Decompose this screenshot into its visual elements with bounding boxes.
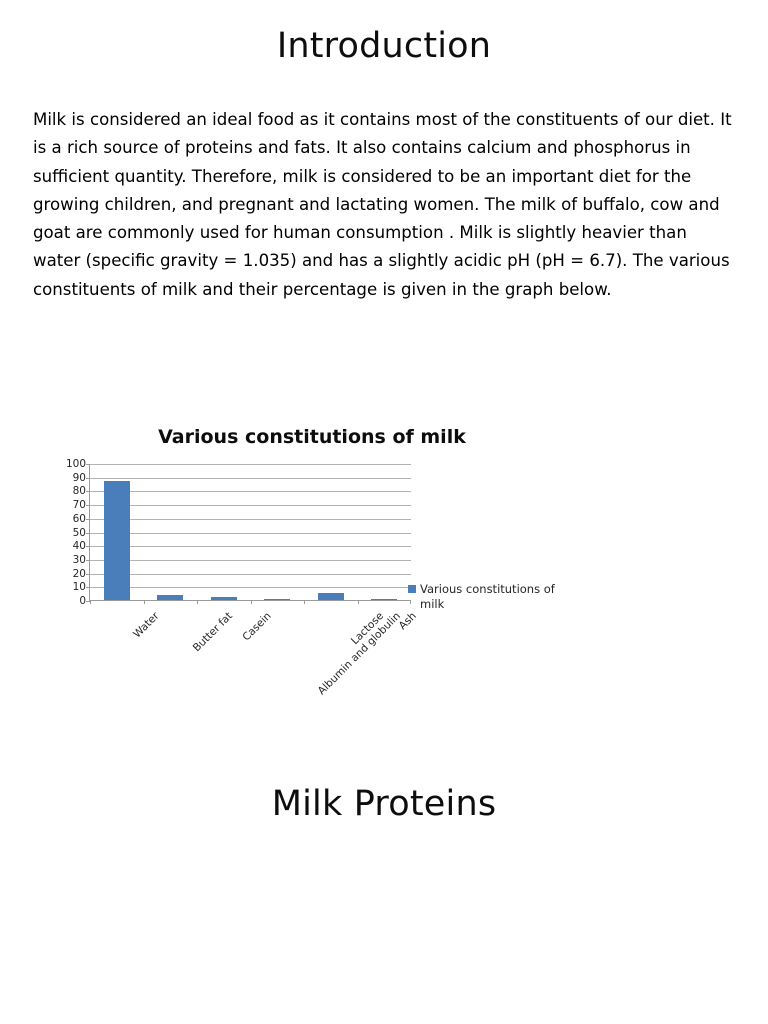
- y-tick-label: 40: [56, 541, 86, 552]
- bars-layer: [90, 464, 411, 600]
- y-tick-label: 80: [56, 486, 86, 497]
- chart-figure: Various constitutions of milk 1009080706…: [56, 420, 656, 710]
- x-axis-labels: WaterButter fatCaseinAlbumin and globuli…: [89, 604, 411, 714]
- chart-legend: Various constitutions of milk: [408, 582, 580, 611]
- bar-slot: [304, 464, 358, 600]
- page-title-milk-proteins: Milk Proteins: [0, 784, 768, 824]
- bar-slot: [90, 464, 144, 600]
- x-tick-label: Ash: [396, 610, 418, 632]
- bar-slot: [144, 464, 198, 600]
- x-tick-label: Albumin and globulin: [316, 610, 403, 697]
- intro-paragraph: Milk is considered an ideal food as it c…: [33, 106, 735, 304]
- y-tick-label: 20: [56, 569, 86, 580]
- y-tick-label: 10: [56, 582, 86, 593]
- chart-bar[interactable]: [104, 481, 130, 600]
- bar-slot: [251, 464, 305, 600]
- chart-bar[interactable]: [211, 597, 237, 600]
- y-axis-labels: 1009080706050403020100: [56, 464, 86, 601]
- y-tick-label: 100: [56, 459, 86, 470]
- legend-swatch-icon: [408, 585, 416, 593]
- chart-bar[interactable]: [157, 595, 183, 600]
- y-tick-label: 70: [56, 500, 86, 511]
- bar-slot: [358, 464, 412, 600]
- chart-title: Various constitutions of milk: [56, 426, 568, 448]
- chart-plot-wrapper: 1009080706050403020100 WaterButter fatCa…: [56, 464, 656, 614]
- legend-label: Various constitutions of milk: [420, 582, 580, 611]
- y-tick-label: 0: [56, 596, 86, 607]
- chart-bar[interactable]: [318, 593, 344, 600]
- bar-slot: [197, 464, 251, 600]
- y-tick-label: 50: [56, 528, 86, 539]
- y-tick-label: 90: [56, 473, 86, 484]
- chart-bar[interactable]: [264, 599, 290, 600]
- chart-bar[interactable]: [371, 599, 397, 600]
- y-tick-label: 30: [56, 555, 86, 566]
- page-title-introduction: Introduction: [0, 26, 768, 66]
- chart-plot-area: [89, 464, 411, 601]
- y-tick-label: 60: [56, 514, 86, 525]
- x-tick-label: Water: [131, 610, 161, 640]
- x-tick-label: Casein: [240, 610, 273, 643]
- x-tick-label: Butter fat: [191, 610, 235, 654]
